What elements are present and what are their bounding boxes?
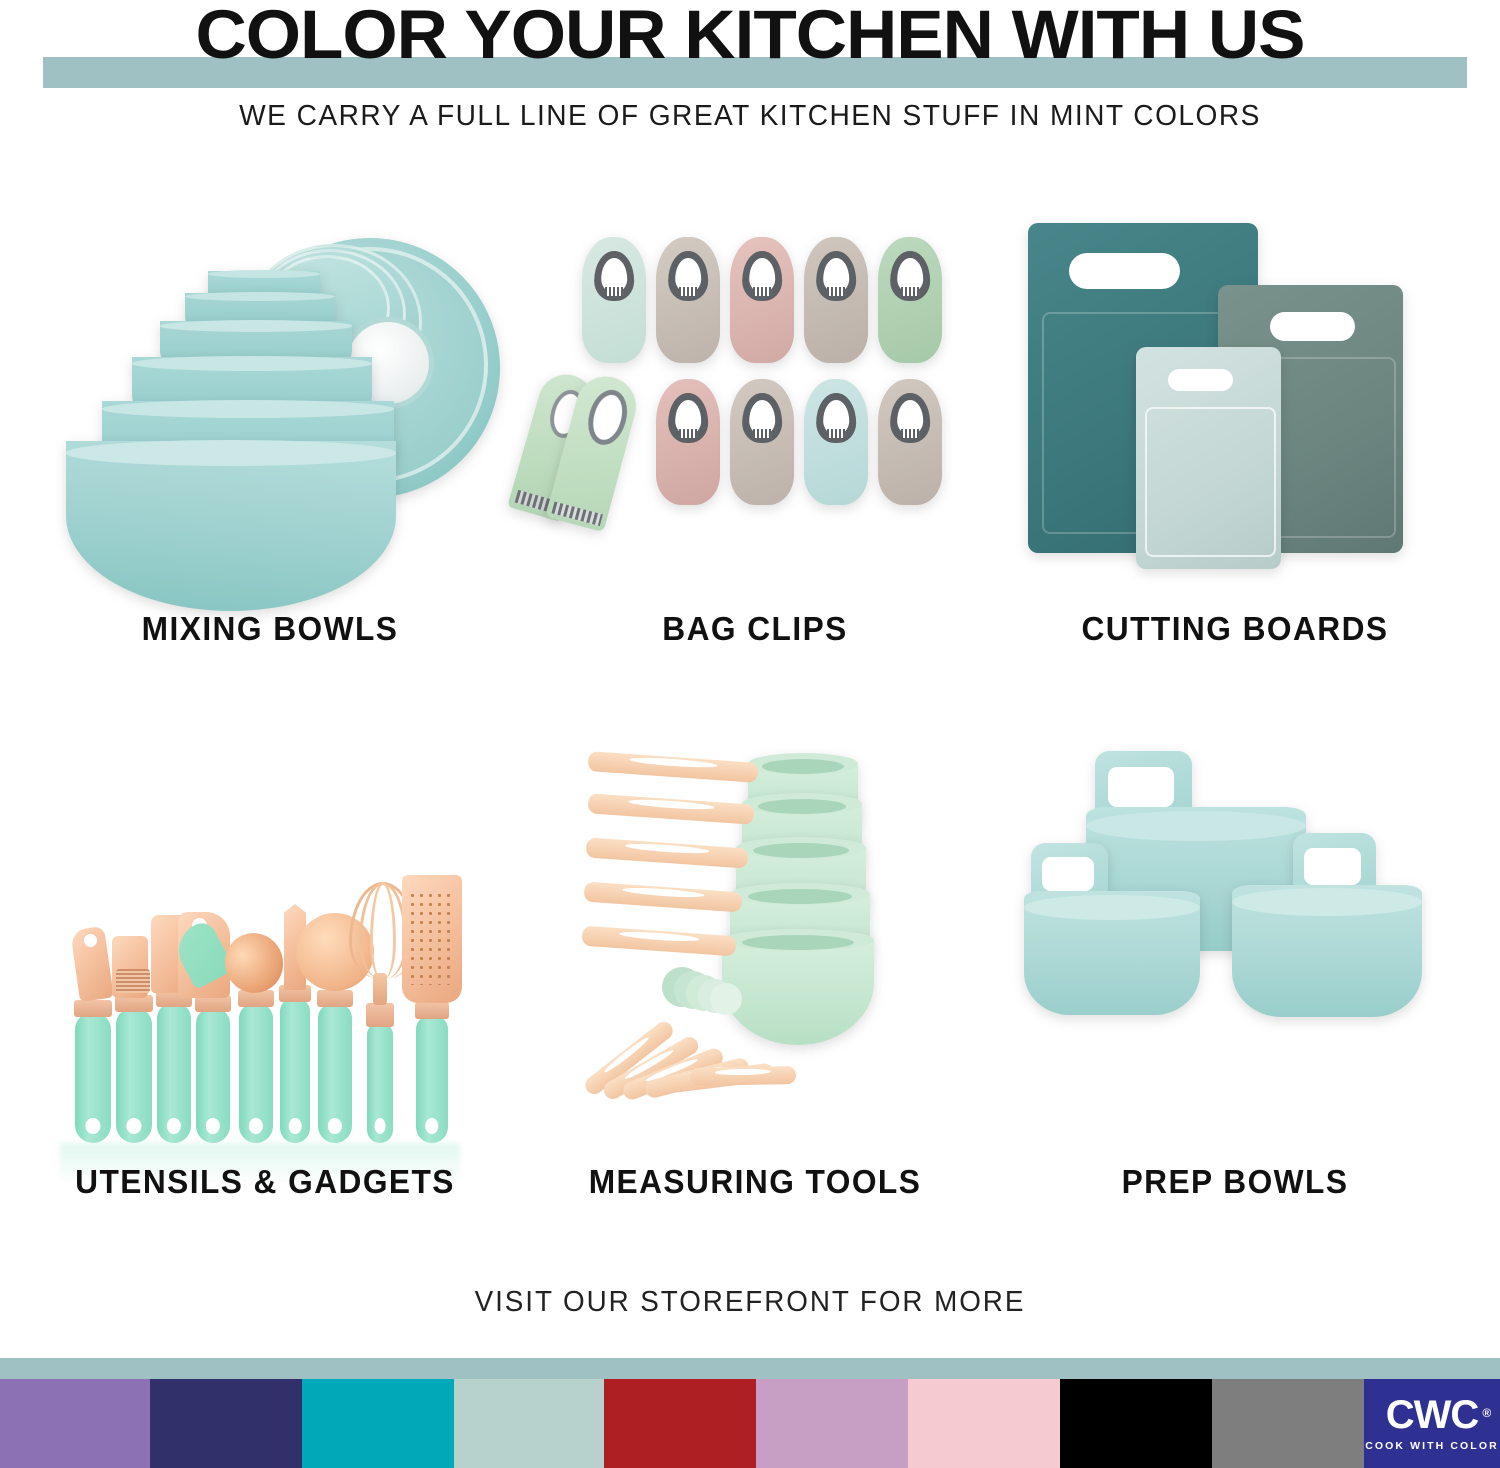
bag-clip-r1-3	[730, 237, 794, 363]
measuring-cup-handle-1	[588, 751, 759, 783]
page-title: COLOR YOUR KITCHEN WITH US	[0, 0, 1500, 76]
bag-clip-r2-3	[804, 379, 868, 505]
product-cell-cutting-boards[interactable]: CUTTING BOARDS	[1000, 175, 1470, 675]
logo-mark-text: CWC®	[1386, 1395, 1479, 1435]
bowl-6-largest	[66, 441, 396, 611]
utensil-scoop	[239, 891, 273, 1143]
product-cell-utensils[interactable]: UTENSILS & GADGETS	[30, 705, 500, 1235]
color-swatch-blush-pink	[908, 1379, 1060, 1468]
storefront-cta-text: VISIT OUR STOREFRONT FOR MORE	[30, 1286, 1470, 1319]
color-swatch-red	[604, 1379, 756, 1468]
prep-bowls-photo	[1000, 705, 1470, 1235]
utensil-can-opener	[75, 873, 111, 1143]
header: COLOR YOUR KITCHEN WITH US WE CARRY A FU…	[0, 0, 1500, 160]
utensil-garlic-press-b	[196, 885, 230, 1143]
measuring-cup-handle-3	[585, 837, 748, 868]
bag-clip-r1-4	[804, 237, 868, 363]
color-swatch-purple	[0, 1379, 150, 1468]
color-swatch-gray	[1212, 1379, 1364, 1468]
product-label-prep-bowls: PREP BOWLS	[1009, 1163, 1460, 1201]
bag-clip-r1-2	[656, 237, 720, 363]
product-grid: MIXING BOWLS BAG CLIPS	[0, 175, 1500, 1255]
utensil-peeler	[280, 881, 310, 1143]
product-cell-measuring[interactable]: MEASURING TOOLS	[530, 705, 980, 1235]
color-swatch-orchid	[756, 1379, 908, 1468]
registered-trademark-icon: ®	[1482, 1393, 1490, 1433]
mixing-bowls-photo	[40, 175, 500, 675]
cutting-boards-photo	[1000, 175, 1470, 675]
product-cell-mixing-bowls[interactable]: MIXING BOWLS	[40, 175, 500, 675]
bag-clip-r2-4	[878, 379, 942, 505]
product-label-mixing-bowls: MIXING BOWLS	[49, 610, 491, 648]
product-label-bag-clips: BAG CLIPS	[529, 610, 980, 648]
utensil-whisk	[367, 843, 393, 1143]
measuring-cup-handle-5	[581, 926, 736, 957]
bag-clips-photo	[520, 175, 990, 675]
measuring-cup-handle-4	[583, 882, 742, 913]
product-cell-bag-clips[interactable]: BAG CLIPS	[520, 175, 990, 675]
bag-clip-r2-1	[656, 379, 720, 505]
utensil-can-opener-arm	[116, 878, 152, 1143]
bag-clip-r1-1	[582, 237, 646, 363]
utensils-gadgets-photo	[30, 705, 500, 1235]
footer-color-strip: CWC® COOK WITH COLOR	[0, 1358, 1500, 1468]
utensil-pizza-cutter	[318, 875, 352, 1143]
page-subtitle: WE CARRY A FULL LINE OF GREAT KITCHEN ST…	[23, 100, 1478, 133]
product-label-utensils: UTENSILS & GADGETS	[39, 1163, 490, 1201]
prep-bowl-small	[1024, 843, 1200, 1015]
prep-bowl-medium	[1232, 833, 1422, 1017]
color-swatch-row: CWC® COOK WITH COLOR	[0, 1379, 1500, 1468]
measuring-tools-photo	[530, 705, 980, 1235]
product-label-measuring: MEASURING TOOLS	[539, 1163, 971, 1201]
cutting-board-small	[1136, 347, 1281, 569]
product-label-cutting-boards: CUTTING BOARDS	[1009, 610, 1460, 648]
logo-mark-letters: CWC	[1386, 1393, 1479, 1437]
bag-clip-r1-5	[878, 237, 942, 363]
measuring-cup-handle-2	[588, 793, 755, 825]
color-swatch-teal	[302, 1379, 454, 1468]
product-cell-prep-bowls[interactable]: PREP BOWLS	[1000, 705, 1470, 1235]
bag-clip-r2-2	[730, 379, 794, 505]
brand-logo[interactable]: CWC® COOK WITH COLOR	[1364, 1379, 1500, 1468]
color-swatch-sage	[454, 1379, 604, 1468]
color-swatch-black	[1060, 1379, 1212, 1468]
footer-accent-band	[0, 1358, 1500, 1379]
utensil-grater	[416, 855, 448, 1143]
measuring-spoons-fan	[590, 965, 800, 1125]
logo-tagline: COOK WITH COLOR	[1365, 1440, 1499, 1452]
color-swatch-navy	[150, 1379, 302, 1468]
